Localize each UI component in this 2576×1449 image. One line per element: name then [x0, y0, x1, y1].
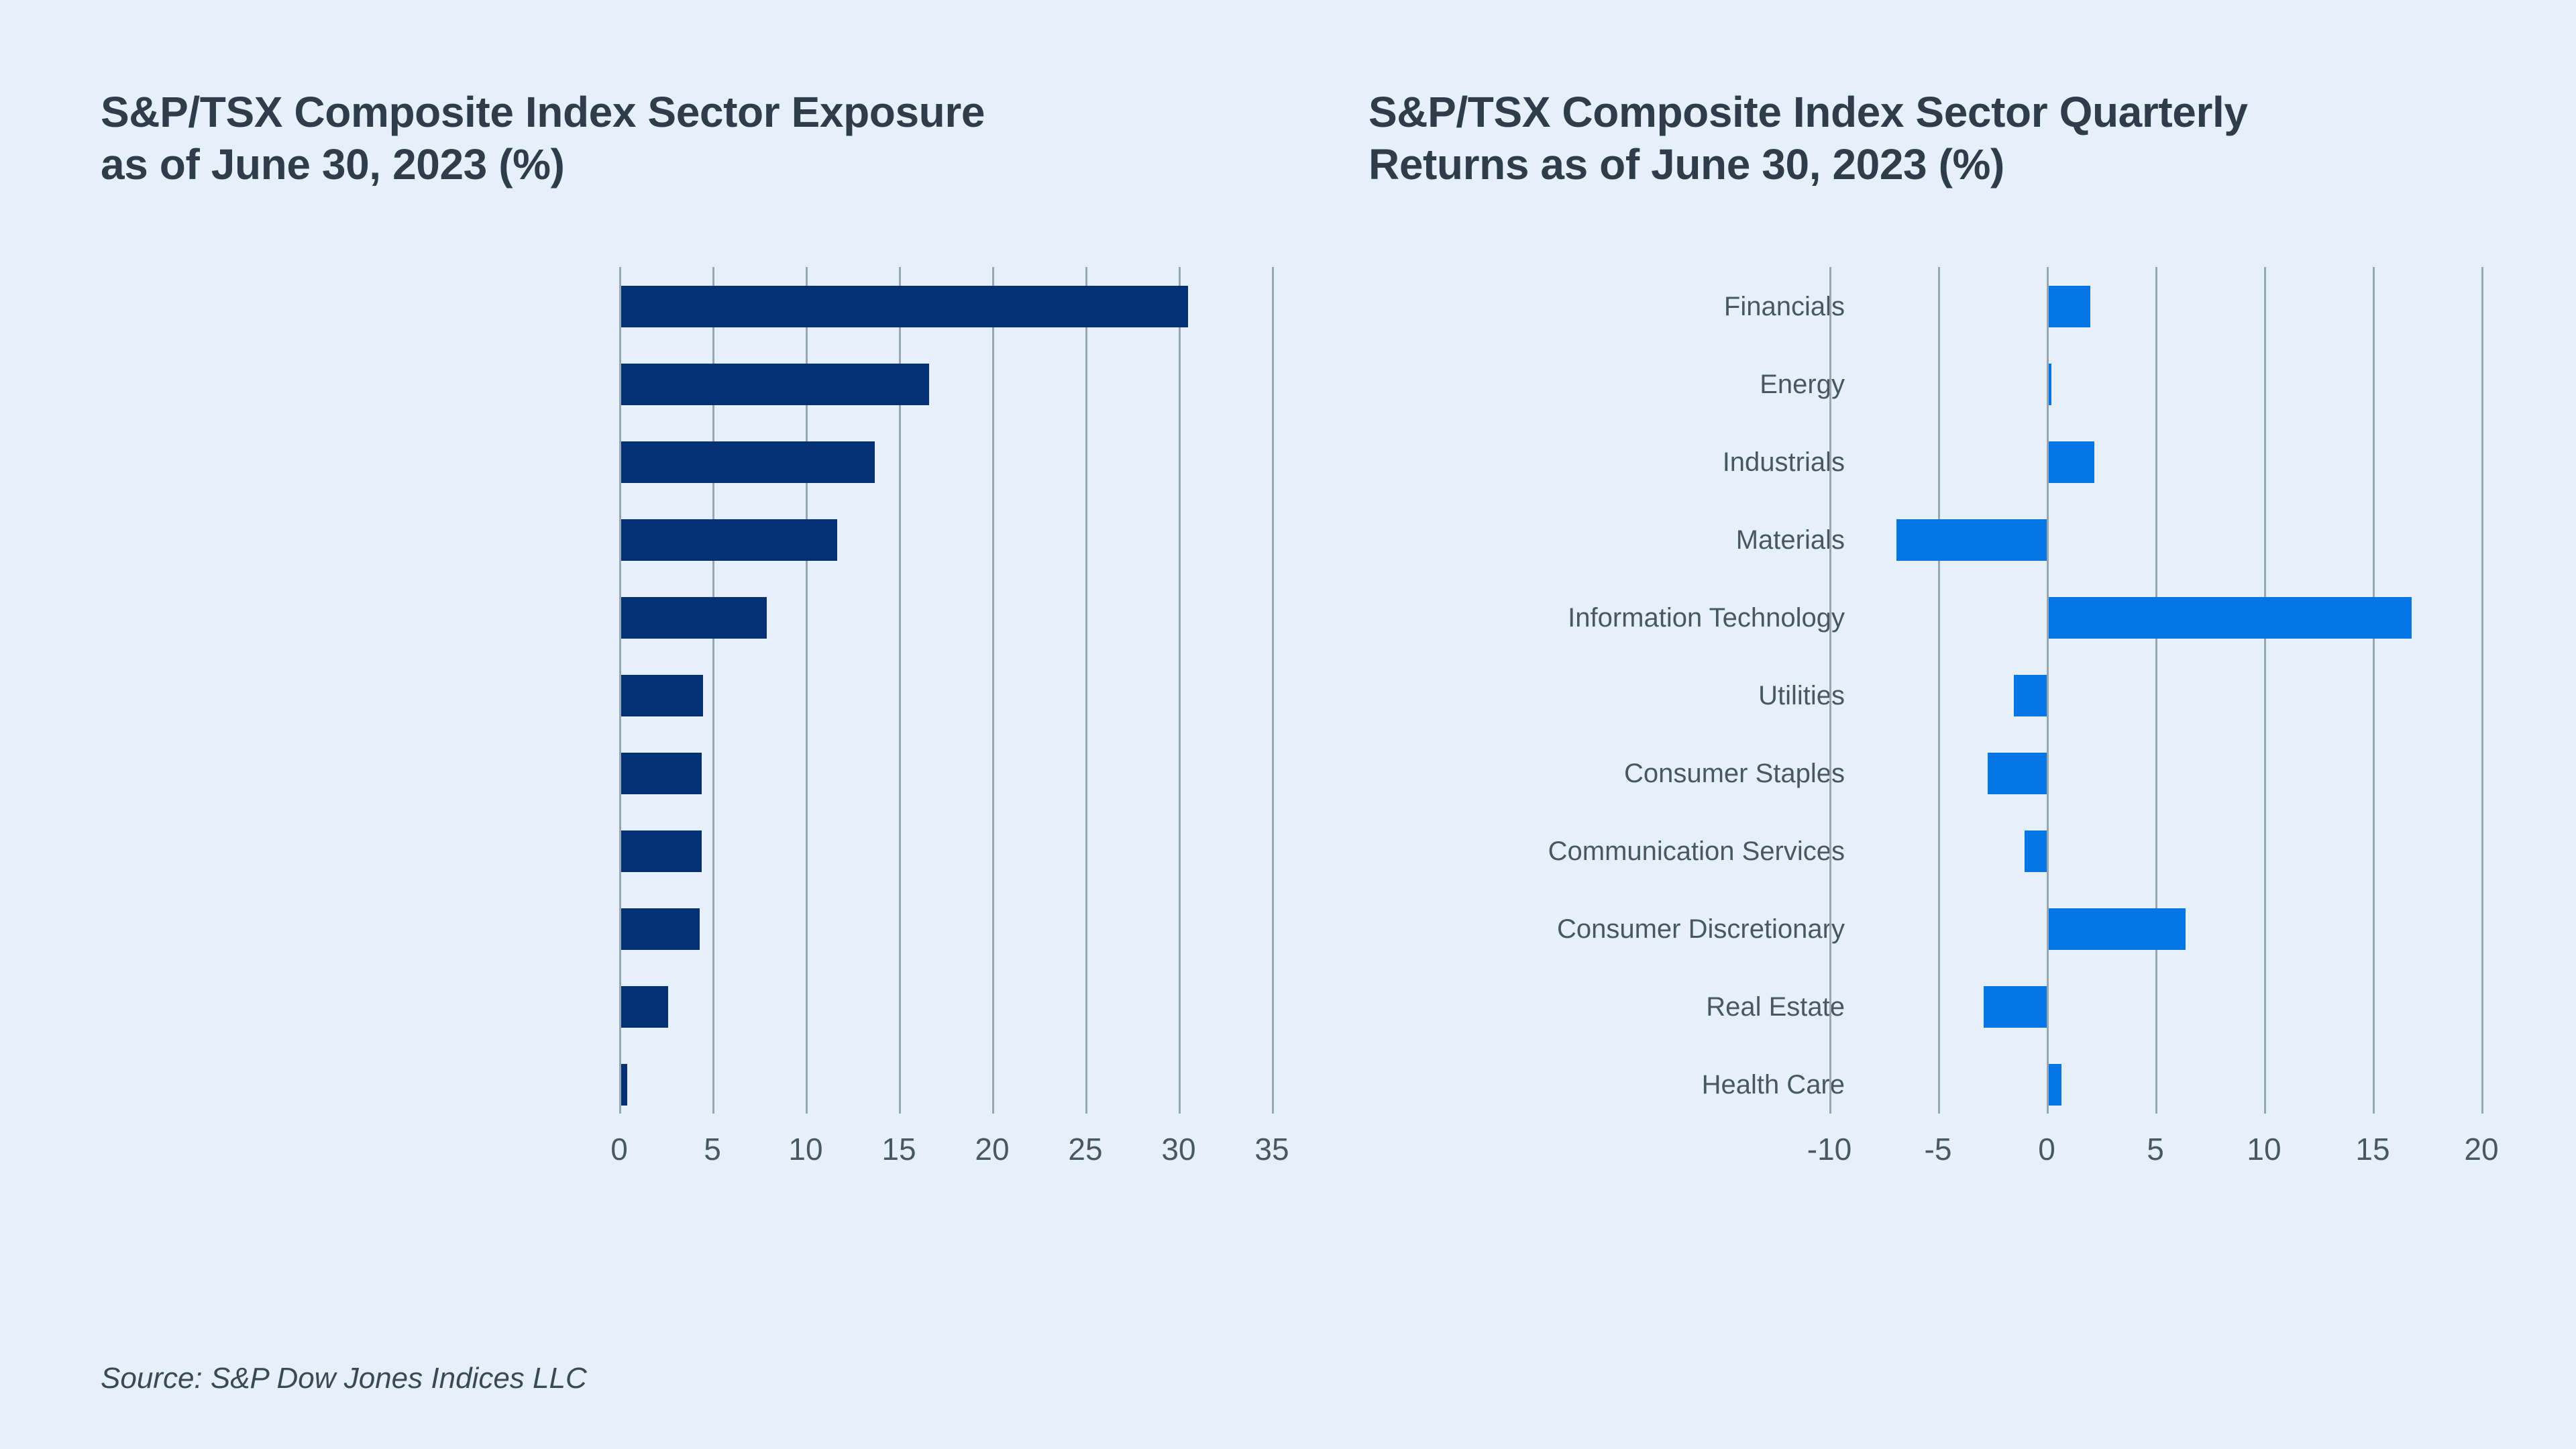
exposure-gridline-25 [1085, 267, 1087, 1114]
exposure-xtick-25: 25 [1032, 1134, 1139, 1165]
returns-category-label-7: Communication Services [1548, 838, 1845, 865]
exposure-gridline-35 [1272, 267, 1274, 1114]
exposure-bar-consumer-staples [621, 753, 702, 794]
returns-bar-financials [2049, 286, 2090, 327]
returns-gridline-20 [2481, 267, 2483, 1114]
returns-gridline-neg5 [1938, 267, 1940, 1114]
returns-category-label-2: Industrials [1723, 449, 1845, 476]
exposure-bar-information-technology [621, 597, 767, 639]
returns-xtick-20: 20 [2428, 1134, 2535, 1165]
exposure-bar-communication-services [621, 830, 702, 872]
exposure-gridline-20 [992, 267, 994, 1114]
exposure-xtick-30: 30 [1125, 1134, 1232, 1165]
exposure-bar-energy [621, 364, 929, 405]
returns-bar-real-estate [1984, 986, 2047, 1028]
returns-gridline-10 [2264, 267, 2266, 1114]
exposure-bar-utilities [621, 675, 703, 716]
returns-xtick-0: 0 [1993, 1134, 2100, 1165]
returns-category-label-0: Financials [1724, 293, 1845, 320]
exposure-title-line-1: S&P/TSX Composite Index Sector Exposure [101, 86, 1228, 138]
returns-category-label-6: Consumer Staples [1624, 760, 1845, 787]
exposure-bar-health-care [621, 1064, 627, 1106]
source-note: Source: S&P Dow Jones Indices LLC [101, 1362, 587, 1395]
returns-category-label-4: Information Technology [1568, 604, 1845, 631]
returns-panel: S&P/TSX Composite Index Sector Quarterly… [1288, 0, 2576, 1449]
chart-page: S&P/TSX Composite Index Sector Exposure … [0, 0, 2576, 1449]
returns-bar-consumer-discretionary [2049, 908, 2186, 950]
exposure-bar-materials [621, 519, 837, 561]
returns-bar-communication-services [2025, 830, 2047, 872]
returns-title-line-1: S&P/TSX Composite Index Sector Quarterly [1368, 86, 2522, 138]
returns-title-line-2: Returns as of June 30, 2023 (%) [1368, 138, 2522, 191]
returns-bar-industrials [2049, 441, 2094, 483]
returns-xtick-neg10: -10 [1776, 1134, 1883, 1165]
returns-xtick-15: 15 [2319, 1134, 2426, 1165]
returns-category-label-1: Energy [1760, 371, 1845, 398]
returns-bar-utilities [2014, 675, 2047, 716]
exposure-bar-financials [621, 286, 1188, 327]
returns-bar-materials [1896, 519, 2047, 561]
returns-gridline-15 [2373, 267, 2375, 1114]
returns-category-label-5: Utilities [1758, 682, 1845, 709]
returns-xtick-5: 5 [2102, 1134, 2209, 1165]
returns-bar-health-care [2049, 1064, 2061, 1106]
returns-category-label-10: Health Care [1702, 1071, 1845, 1098]
exposure-bar-consumer-discretionary [621, 908, 700, 950]
returns-xtick-neg5: -5 [1884, 1134, 1992, 1165]
exposure-panel: S&P/TSX Composite Index Sector Exposure … [0, 0, 1288, 1449]
returns-category-label-3: Materials [1736, 527, 1845, 553]
returns-xtick-10: 10 [2210, 1134, 2318, 1165]
returns-category-label-9: Real Estate [1706, 994, 1845, 1020]
exposure-bar-industrials [621, 441, 875, 483]
exposure-title-line-2: as of June 30, 2023 (%) [101, 138, 1228, 191]
exposure-chart-title: S&P/TSX Composite Index Sector Exposure … [101, 86, 1228, 191]
exposure-xtick-20: 20 [938, 1134, 1046, 1165]
returns-gridline-neg10 [1829, 267, 1831, 1114]
exposure-xtick-10: 10 [752, 1134, 859, 1165]
returns-bar-consumer-staples [1988, 753, 2047, 794]
returns-category-label-8: Consumer Discretionary [1557, 916, 1845, 943]
exposure-xtick-0: 0 [566, 1134, 673, 1165]
returns-bar-information-technology [2049, 597, 2412, 639]
returns-chart-title: S&P/TSX Composite Index Sector Quarterly… [1368, 86, 2522, 191]
exposure-xtick-5: 5 [659, 1134, 766, 1165]
exposure-gridline-30 [1179, 267, 1181, 1114]
returns-bar-energy [2049, 364, 2051, 405]
returns-gridline-5 [2155, 267, 2157, 1114]
exposure-xtick-15: 15 [845, 1134, 953, 1165]
exposure-bar-real-estate [621, 986, 668, 1028]
